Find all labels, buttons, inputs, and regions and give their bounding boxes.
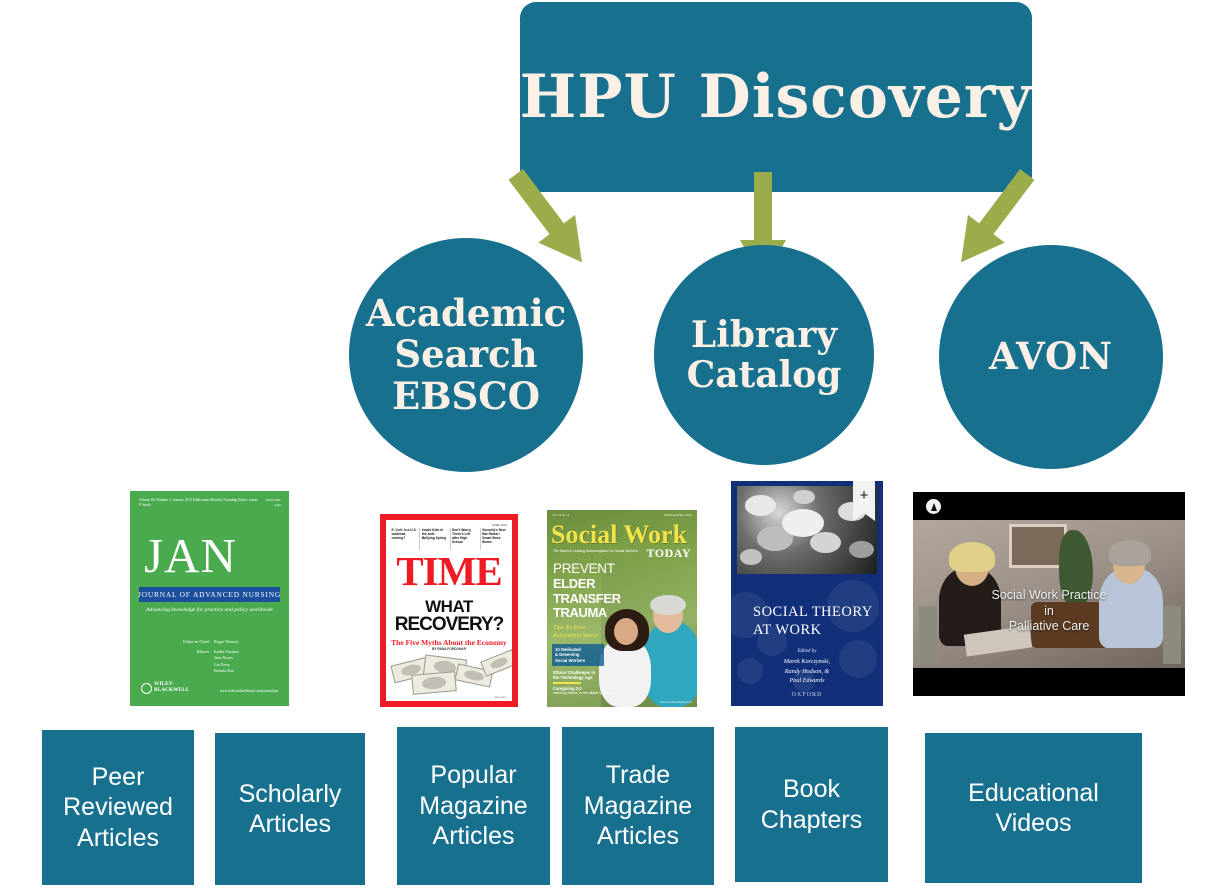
label-scholarly-articles[interactable]: Scholarly Articles bbox=[215, 733, 365, 885]
jan-editor-in-chief: Roger Watson bbox=[214, 639, 238, 646]
jan-url: www.wileyonlinelibrary.com/journal/jan bbox=[220, 689, 278, 693]
time-teaser: E. Coli: Is a U.S. outbreak coming? bbox=[390, 528, 417, 550]
cover-social-theory-at-work: + SOCIAL THEORY AT WORK Edited by Marek … bbox=[731, 481, 883, 706]
jan-editor-in-chief-key: Editor-in-Chief: bbox=[180, 639, 210, 646]
book-edited-by-label: Edited by bbox=[731, 649, 883, 654]
swt-volume: Vol. 13 No. 2 bbox=[552, 513, 569, 517]
time-headline-line2: RECOVERY? bbox=[386, 615, 512, 634]
label-popular-magazine-articles[interactable]: Popular Magazine Articles bbox=[397, 727, 550, 885]
swt-strapline: The Nation's Leading Newsmagazine for So… bbox=[553, 549, 638, 553]
label-trade-magazine-articles[interactable]: Trade Magazine Articles bbox=[562, 727, 714, 885]
book-publisher: OXFORD bbox=[731, 692, 883, 698]
swt-cover-line-1: 10 Dedicated & Deserving Social Workers bbox=[552, 644, 604, 666]
swt-cover-line-2: Ethical Challenges in the Technology Age bbox=[553, 670, 615, 681]
node-library-catalog-label: Library Catalog bbox=[687, 315, 842, 396]
node-avon-label: AVON bbox=[989, 336, 1113, 377]
time-teaser: Security's New Bar Raiser: Smart Boss Bo… bbox=[480, 528, 508, 550]
swt-cover-line-3: Caregiving 2.0 reaching clients in the d… bbox=[553, 686, 615, 696]
swt-date: MARCH/APRIL 2013 bbox=[664, 513, 692, 517]
jan-issue-line: Volume 69, Number 1, January 2013 Public… bbox=[139, 498, 281, 509]
time-headline-line1: WHAT bbox=[386, 598, 512, 615]
jan-publisher: WILEY- BLACKWELL bbox=[154, 682, 189, 694]
swt-headline: ELDER TRANSFER TRAUMA bbox=[553, 577, 621, 621]
time-teaser-strip: E. Coli: Is a U.S. outbreak coming? Insi… bbox=[390, 528, 508, 550]
jan-issn: ISSN 0309-2402 bbox=[261, 498, 281, 509]
logo-mark bbox=[931, 503, 937, 511]
cover-jan-journal: Volume 69, Number 1, January 2013 Public… bbox=[130, 491, 289, 706]
jan-title-bar: JOURNAL OF ADVANCED NURSING bbox=[139, 587, 280, 602]
cover-educational-video[interactable]: Social Work Practice in Palliative Care bbox=[913, 492, 1185, 696]
label-educational-videos-text: Educational Videos bbox=[968, 778, 1099, 839]
jan-editors-list: Kader Parahoo Jane Noyes Lin Perry Brend… bbox=[214, 649, 239, 675]
swt-kicker: PREVENT bbox=[553, 562, 615, 576]
wiley-blackwell-logo: WILEY- BLACKWELL bbox=[141, 682, 189, 694]
alexander-street-logo-icon bbox=[926, 499, 941, 514]
swt-italic-line: Tips To Ease Relocation Stress bbox=[553, 624, 598, 640]
swt-date-bar: Vol. 13 No. 2 MARCH/APRIL 2013 bbox=[552, 513, 692, 517]
time-date: APRIL 2013 bbox=[492, 523, 507, 527]
label-educational-videos[interactable]: Educational Videos bbox=[925, 733, 1142, 883]
time-teaser: Don't Worry, There's Life after High Sch… bbox=[450, 528, 478, 550]
label-book-chapters-text: Book Chapters bbox=[761, 774, 862, 835]
page-title: HPU Discovery bbox=[520, 67, 1033, 127]
node-academic-search-ebsco[interactable]: Academic Search EBSCO bbox=[349, 238, 583, 472]
time-cover-art-dollar-bills bbox=[390, 653, 508, 697]
discovery-infographic: HPU Discovery Academic Search EBSCO Libr… bbox=[0, 0, 1210, 896]
hpu-discovery-banner: HPU Discovery bbox=[520, 2, 1032, 192]
cover-social-work-today: Vol. 13 No. 2 MARCH/APRIL 2013 Social Wo… bbox=[547, 510, 697, 707]
label-peer-reviewed-articles-text: Peer Reviewed Articles bbox=[63, 762, 173, 854]
swt-divider bbox=[553, 682, 581, 684]
wiley-mark-icon bbox=[141, 683, 152, 694]
jan-full-title: JOURNAL OF ADVANCED NURSING bbox=[138, 590, 281, 599]
label-book-chapters[interactable]: Book Chapters bbox=[735, 727, 888, 882]
jan-editors-key: Editors: bbox=[180, 649, 210, 675]
swt-url: www.socialworktoday.com bbox=[660, 700, 692, 704]
book-title: SOCIAL THEORY AT WORK bbox=[753, 603, 873, 639]
swt-today-word: TODAY bbox=[646, 546, 691, 561]
book-editors: Marek Korczynski, Randy Hodson, & Paul E… bbox=[731, 657, 883, 686]
swt-cover-line-3-sub: reaching clients in the digital storefro… bbox=[553, 691, 615, 696]
time-footer: time.com bbox=[495, 695, 506, 699]
time-headline: WHAT RECOVERY? bbox=[386, 598, 512, 634]
jan-acronym: JAN bbox=[144, 531, 237, 580]
label-trade-magazine-articles-text: Trade Magazine Articles bbox=[584, 760, 692, 852]
video-caption: Social Work Practice in Palliative Care bbox=[913, 588, 1185, 635]
time-teaser: Inside Kids in the Anti-Bullying Spring bbox=[419, 528, 447, 550]
time-subhead: The Five Myths About the Economy bbox=[386, 638, 512, 647]
label-peer-reviewed-articles[interactable]: Peer Reviewed Articles bbox=[42, 730, 194, 885]
node-library-catalog[interactable]: Library Catalog bbox=[654, 245, 874, 465]
jan-editors: Editor-in-Chief: Roger Watson Editors: K… bbox=[180, 639, 239, 675]
time-masthead: TIME bbox=[386, 551, 512, 592]
cover-time-magazine: APRIL 2013 E. Coli: Is a U.S. outbreak c… bbox=[380, 514, 518, 707]
time-byline: BY RANA FOROOHAR bbox=[386, 647, 512, 651]
node-avon[interactable]: AVON bbox=[939, 245, 1163, 469]
label-popular-magazine-articles-text: Popular Magazine Articles bbox=[419, 760, 527, 852]
jan-issue-text: Volume 69, Number 1, January 2013 Public… bbox=[139, 498, 261, 509]
node-academic-search-ebsco-label: Academic Search EBSCO bbox=[366, 293, 566, 417]
swt-cover-line-3-title: Caregiving 2.0 bbox=[553, 686, 582, 691]
swt-masthead: Social Work bbox=[551, 522, 687, 548]
book-bubble-decor bbox=[731, 574, 883, 706]
label-scholarly-articles-text: Scholarly Articles bbox=[239, 779, 342, 840]
jan-tagline: Advancing knowledge for practice and pol… bbox=[130, 607, 289, 613]
